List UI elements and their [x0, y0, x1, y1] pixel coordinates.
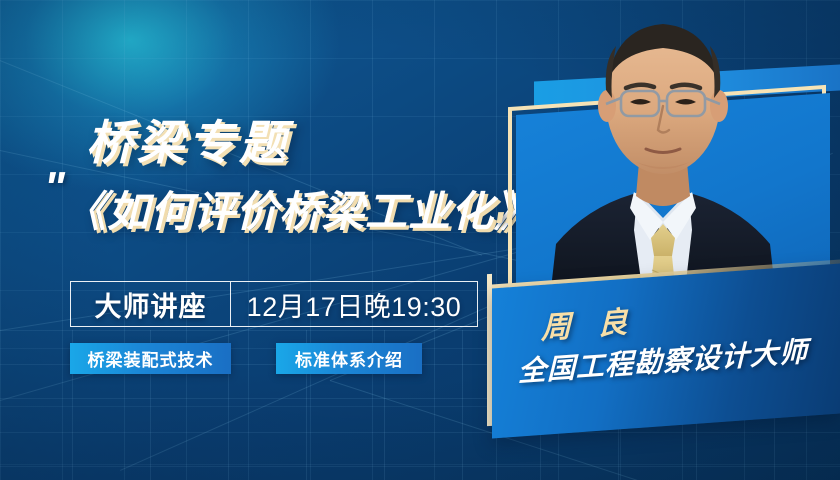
topic-tag-2: 标准体系介绍	[276, 343, 422, 374]
lecture-date: 12月17日晚19:30	[247, 285, 462, 324]
lecture-label: 大师讲座	[95, 285, 207, 324]
poster-canvas: " 桥梁专题 《如何评价桥梁工业化》 " 大师讲座 12月17日晚19:30 桥…	[0, 0, 840, 480]
page-subtitle: 《如何评价桥梁工业化》	[64, 178, 537, 239]
speaker-name: 周 良	[541, 297, 636, 348]
speaker-portrait-composition: 周 良 全国工程勘察设计大师	[486, 0, 840, 480]
quote-open-icon: "	[44, 166, 65, 210]
lecture-label-cell: 大师讲座	[71, 282, 231, 326]
lecture-date-cell: 12月17日晚19:30	[231, 282, 477, 326]
page-title: 桥梁专题	[86, 104, 290, 173]
lecture-info-bar: 大师讲座 12月17日晚19:30	[70, 281, 478, 327]
topic-tag-1: 桥梁装配式技术	[70, 343, 231, 374]
